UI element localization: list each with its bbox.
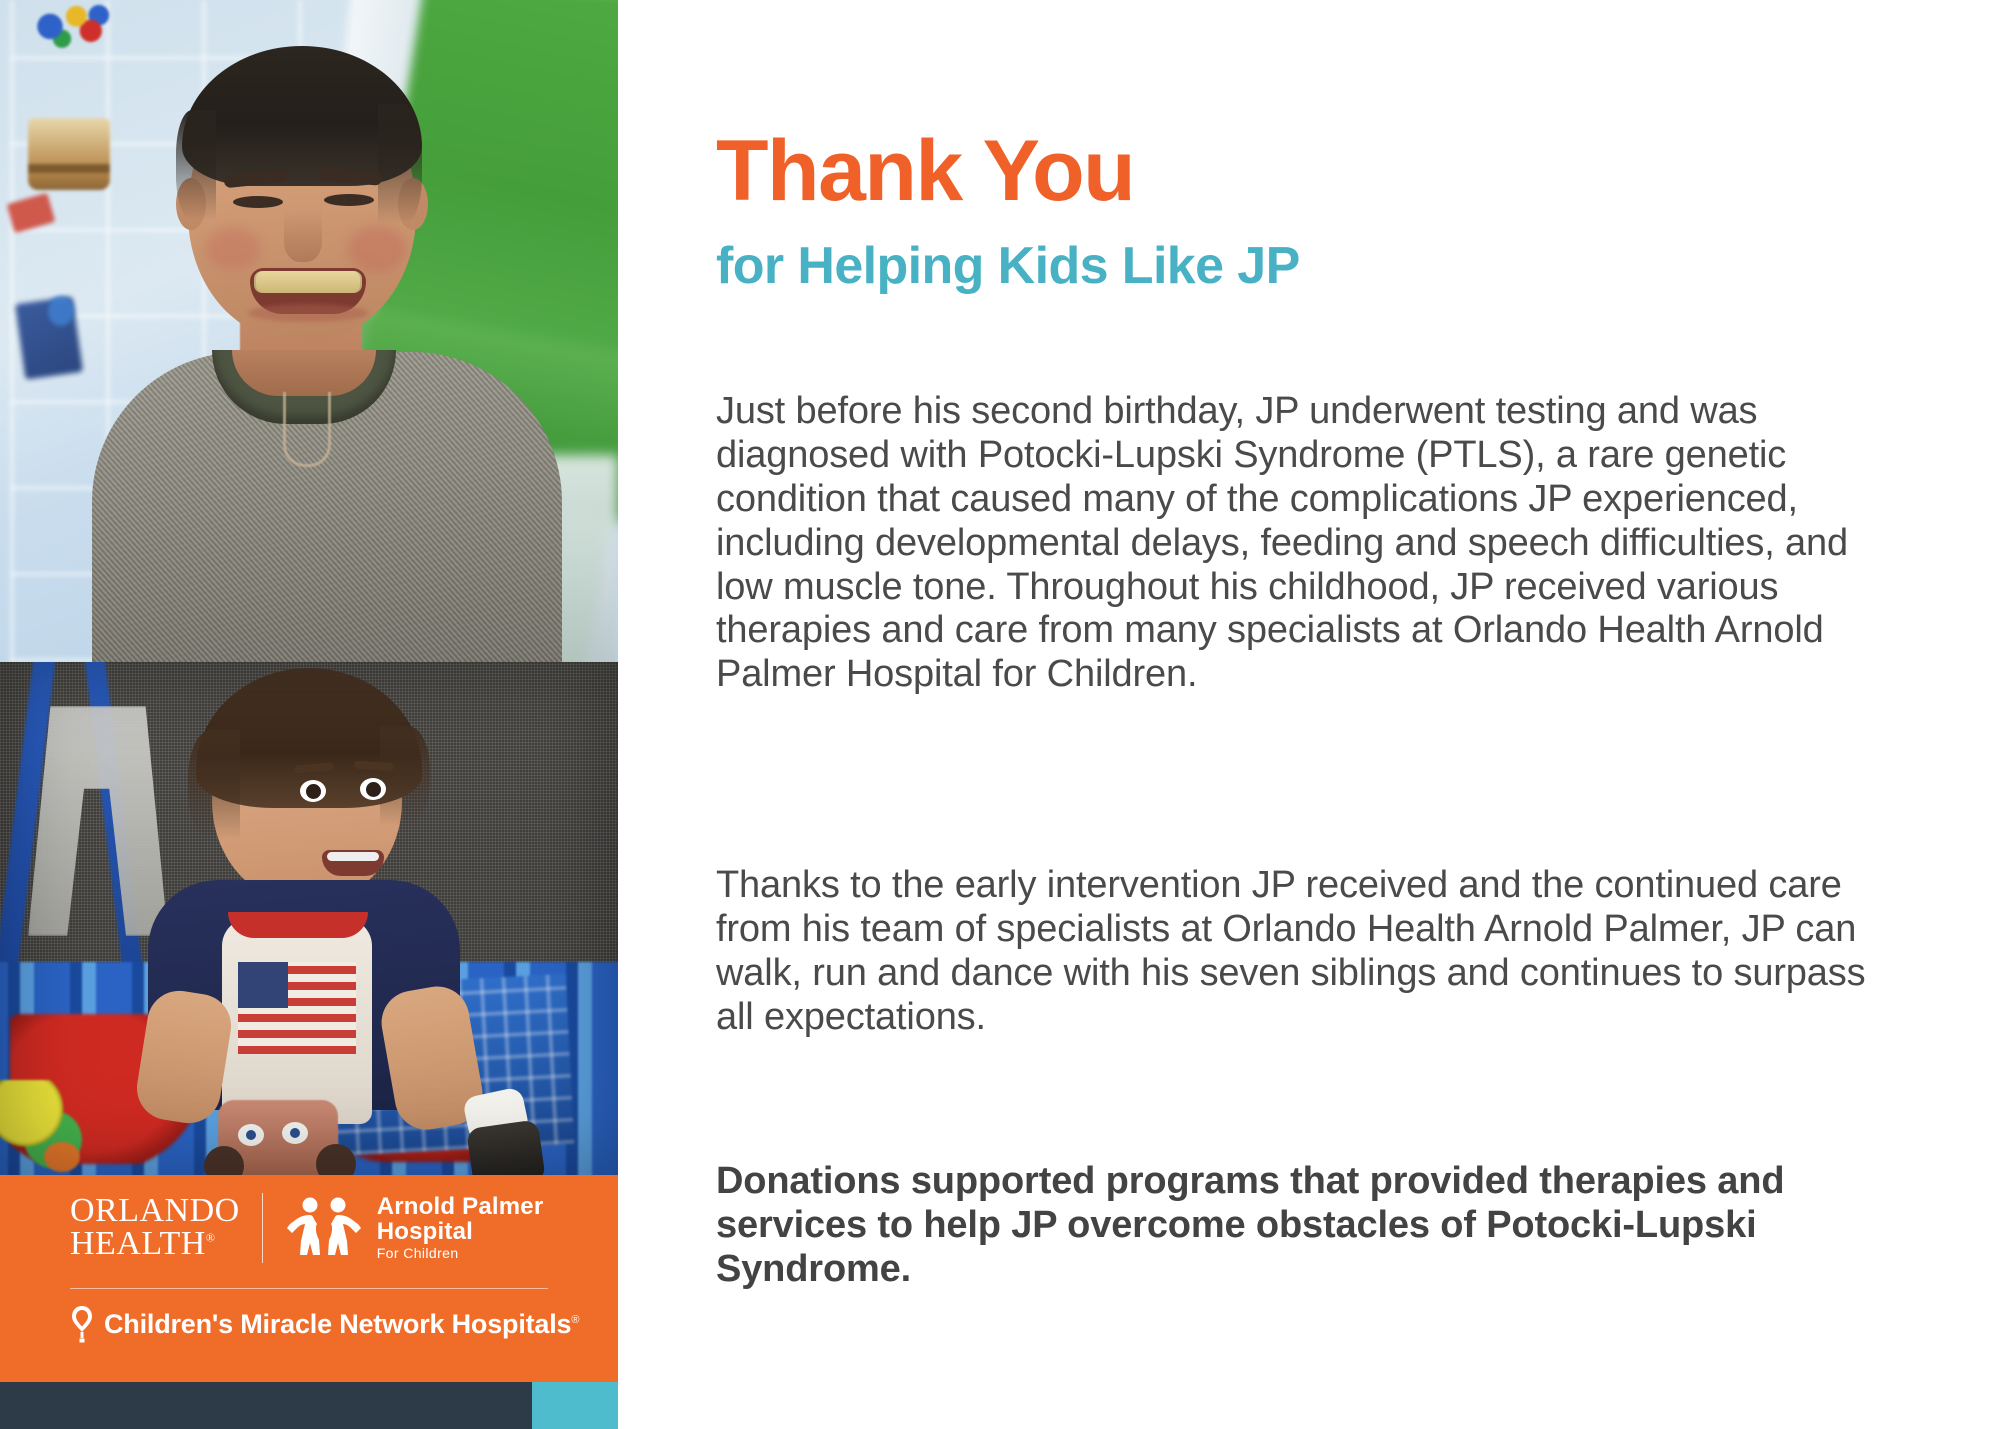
thank-you-card: ORLANDO HEALTH® Arnold Palmer Hospital F… (0, 0, 2000, 1429)
arnold-palmer-line2: Hospital (377, 1220, 544, 1244)
photo-jp-toddler (0, 662, 618, 1175)
logo-divider (262, 1193, 263, 1263)
childrens-miracle-network-text: Children's Miracle Network Hospitals® (104, 1309, 579, 1340)
orlando-health-registered-mark: ® (206, 1231, 216, 1245)
photo-jp-teen (0, 0, 618, 662)
orlando-health-line1: ORLANDO (70, 1195, 240, 1228)
two-children-heart-icon (285, 1197, 363, 1259)
cmn-label: Children's Miracle Network Hospitals (104, 1309, 571, 1339)
balloon-mural-basket-icon (28, 118, 110, 190)
brand-band-divider (70, 1288, 548, 1289)
content-column: Thank You for Helping Kids Like JP Just … (716, 0, 1916, 1429)
logo-lockup: ORLANDO HEALTH® Arnold Palmer Hospital F… (70, 1193, 543, 1263)
page-subtitle: for Helping Kids Like JP (716, 240, 1300, 292)
orlando-health-logo: ORLANDO HEALTH® (70, 1195, 262, 1260)
mural-blue-accent (48, 296, 74, 326)
photo-vignette (0, 662, 618, 1175)
arnold-palmer-line1: Arnold Palmer (377, 1195, 544, 1219)
teen-cheek-right (348, 226, 406, 272)
orlando-health-line2: HEALTH® (70, 1228, 240, 1261)
teen-eye-right (324, 194, 374, 206)
media-column: ORLANDO HEALTH® Arnold Palmer Hospital F… (0, 0, 618, 1429)
teen-hair-right (378, 104, 422, 224)
footer-bar-navy (0, 1382, 532, 1429)
body-paragraph-2: Thanks to the early intervention JP rece… (716, 864, 1906, 1040)
balloon-icon (70, 1305, 94, 1343)
teen-necklace (283, 392, 331, 467)
orlando-health-line2-text: HEALTH (70, 1225, 206, 1262)
balloon-mural-canopy-icon (30, 4, 110, 60)
teen-cheek-left (206, 228, 260, 270)
body-paragraph-3-emphasis: Donations supported programs that provid… (716, 1160, 1896, 1292)
teen-eye-left (233, 196, 283, 208)
childrens-miracle-network-lockup: Children's Miracle Network Hospitals® (70, 1305, 579, 1343)
cmn-registered-mark: ® (571, 1314, 579, 1326)
arnold-palmer-line3: For Children (377, 1246, 544, 1260)
arnold-palmer-wordmark: Arnold Palmer Hospital For Children (377, 1195, 544, 1260)
teen-lower-lip (248, 304, 368, 322)
orlando-health-line1-text: ORLANDO (70, 1192, 240, 1229)
teen-teeth (254, 271, 362, 293)
body-paragraph-1: Just before his second birthday, JP unde… (716, 390, 1906, 697)
page-title: Thank You (716, 128, 1134, 214)
footer-bar-teal (532, 1382, 618, 1429)
teen-nose (284, 210, 322, 262)
brand-band: ORLANDO HEALTH® Arnold Palmer Hospital F… (0, 1175, 618, 1382)
